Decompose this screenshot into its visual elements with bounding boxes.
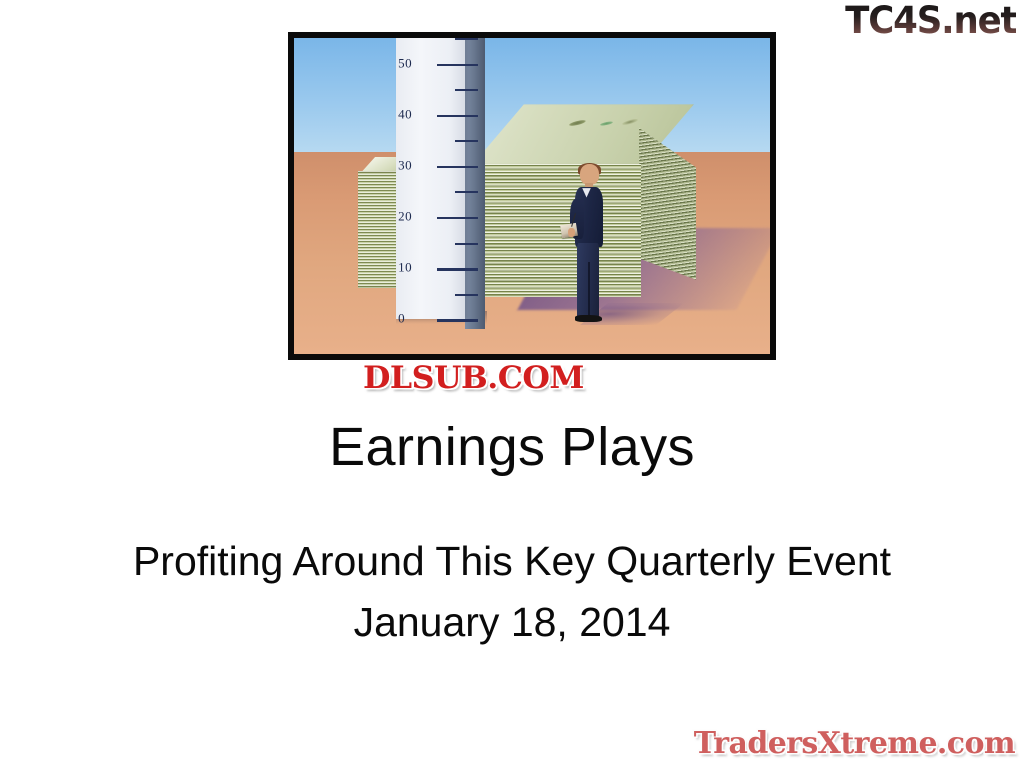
page-date: January 18, 2014: [0, 600, 1024, 645]
ruler-tick-major: [437, 268, 478, 271]
man-shoes: [575, 315, 602, 322]
illustration-image: 01020304050: [294, 38, 770, 354]
ruler-tick-major: [437, 166, 478, 169]
ruler-tick-minor: [455, 191, 478, 193]
ruler-tick-major: [437, 115, 478, 118]
slide-canvas: { "slide": { "title": "Earnings Plays", …: [0, 0, 1024, 768]
tradersxtreme-watermark: TradersXtreme.com: [694, 729, 1015, 759]
ruler-tick-minor: [455, 140, 478, 142]
ruler-tick-minor: [455, 243, 478, 245]
banknote-portrait-oval: [568, 119, 585, 127]
page-subtitle: Profiting Around This Key Quarterly Even…: [0, 539, 1024, 584]
ruler-tick-label: 0: [398, 311, 405, 327]
tc4s-watermark: TC4S.net: [845, 2, 1016, 39]
man-head: [580, 164, 600, 185]
ruler-tick-label: 50: [398, 55, 412, 71]
ruler-tick-major: [437, 64, 478, 67]
page-title: Earnings Plays: [0, 419, 1024, 476]
money-stack-big-face: [470, 164, 641, 297]
dlsub-watermark: DLSUB.COM: [363, 363, 584, 394]
man-hand: [568, 228, 575, 237]
banknote-seal-oval: [600, 120, 614, 126]
ruler-tick-label: 40: [398, 106, 412, 122]
ruler-tick-minor: [455, 38, 478, 40]
businessman-figure: [568, 164, 611, 322]
illustration-frame: 01020304050: [288, 32, 776, 360]
ruler-tick-label: 10: [398, 260, 412, 276]
ruler-tick-major: [437, 217, 478, 220]
man-leg-seam: [588, 262, 590, 317]
ruler-tick-minor: [455, 89, 478, 91]
ruler-tick-label: 30: [398, 158, 412, 174]
ruler-tick-major: [437, 319, 478, 322]
ruler-scale: 01020304050: [396, 38, 485, 319]
banknote-detail-oval: [622, 117, 638, 125]
ruler-tick-label: 20: [398, 209, 412, 225]
ruler-tick-minor: [455, 294, 478, 296]
